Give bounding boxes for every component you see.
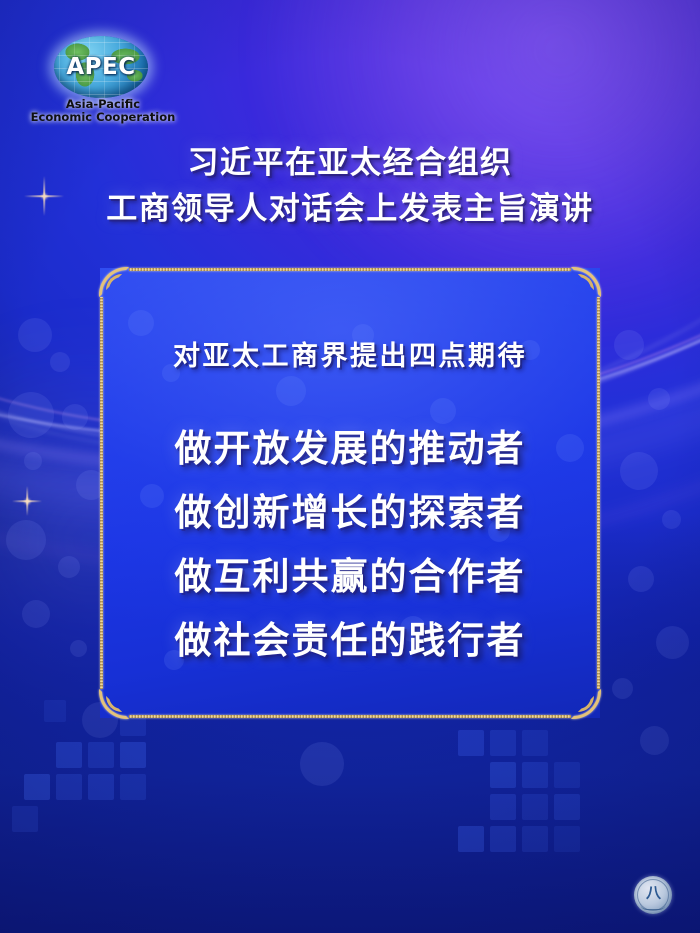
panel-bokeh-circle bbox=[128, 310, 154, 336]
headline-line-2: 工商领导人对话会上发表主旨演讲 bbox=[0, 186, 700, 232]
apec-news-poster: APEC Asia-Pacific Economic Cooperation 习… bbox=[0, 0, 700, 933]
frame-corner-top-left bbox=[99, 267, 129, 297]
panel-bokeh-circle bbox=[276, 376, 306, 406]
gold-framed-panel: 对亚太工商界提出四点期待 做开放发展的推动者 做创新增长的探索者 做互利共赢的合… bbox=[100, 268, 600, 718]
expectation-item-4: 做社会责任的践行者 bbox=[100, 608, 600, 672]
emblem-mark: 八 bbox=[646, 881, 660, 902]
emblem-arc bbox=[640, 903, 666, 910]
headline: 习近平在亚太经合组织 工商领导人对话会上发表主旨演讲 bbox=[0, 140, 700, 232]
expectation-item-2: 做创新增长的探索者 bbox=[100, 480, 600, 544]
expectation-item-3: 做互利共赢的合作者 bbox=[100, 544, 600, 608]
expectation-list: 做开放发展的推动者 做创新增长的探索者 做互利共赢的合作者 做社会责任的践行者 bbox=[100, 416, 600, 672]
frame-border-top bbox=[129, 268, 571, 271]
frame-corner-top-right bbox=[571, 267, 601, 297]
apec-acronym: APEC bbox=[54, 36, 148, 98]
broadcaster-emblem-watermark: 八 bbox=[634, 876, 672, 914]
frame-corner-bottom-left bbox=[99, 689, 129, 719]
panel-subtitle: 对亚太工商界提出四点期待 bbox=[100, 334, 600, 373]
frame-border-bottom bbox=[129, 715, 571, 718]
apec-logo: APEC Asia-Pacific Economic Cooperation bbox=[28, 36, 178, 122]
headline-line-1: 习近平在亚太经合组织 bbox=[0, 140, 700, 186]
frame-corner-bottom-right bbox=[571, 689, 601, 719]
apec-subtitle-line2: Economic Cooperation bbox=[28, 111, 178, 124]
apec-subtitle: Asia-Pacific Economic Cooperation bbox=[28, 98, 178, 124]
expectation-item-1: 做开放发展的推动者 bbox=[100, 416, 600, 480]
